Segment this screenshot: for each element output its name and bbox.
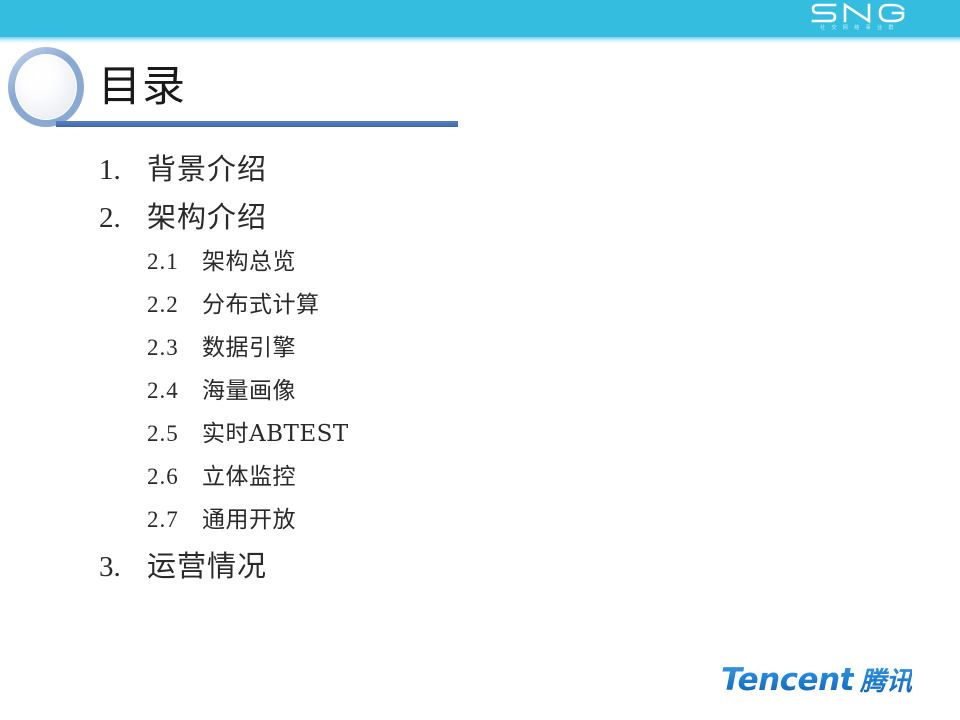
page-title: 目录 (98, 62, 186, 112)
toc-subitem-number: 2.2 (147, 292, 202, 318)
sng-wordmark-icon (804, 2, 912, 24)
toc-item-label: 运营情况 (147, 543, 267, 585)
toc-subitem[interactable]: 2.7 通用开放 (0, 500, 700, 543)
top-banner-fade (0, 37, 960, 44)
toc-item-label: 背景介绍 (147, 146, 267, 188)
toc-subitem-label: 海量画像 (202, 371, 296, 405)
toc-subitem-label: 架构总览 (202, 242, 296, 276)
toc-subitem[interactable]: 2.4 海量画像 (0, 371, 700, 414)
toc-item[interactable]: 2. 架构介绍 (0, 194, 700, 242)
toc-subitem-label: 分布式计算 (202, 285, 320, 319)
toc-subitem-number: 2.3 (147, 335, 202, 361)
toc-item-label: 架构介绍 (147, 194, 267, 236)
toc-item-number: 3. (99, 551, 147, 584)
toc-subitem-number: 2.5 (147, 421, 202, 447)
title-underline-rule (56, 121, 458, 127)
toc-subitem-number: 2.6 (147, 464, 202, 490)
toc-subitem[interactable]: 2.5 实时ABTEST (0, 414, 700, 457)
title-decoration-circle-icon (8, 47, 84, 127)
sng-subtitle: 社 交 网 络 事 业 群 (804, 25, 912, 31)
toc-item[interactable]: 3. 运营情况 (0, 543, 700, 591)
toc-subitem-label: 数据引擎 (202, 328, 296, 362)
tencent-wordmark-en: Tencent (721, 662, 854, 698)
toc-subitem-label: 通用开放 (202, 500, 296, 534)
toc-subitem[interactable]: 2.2 分布式计算 (0, 285, 700, 328)
tencent-logo: Tencent 腾讯 (721, 661, 912, 698)
toc-subitem-number: 2.4 (147, 378, 202, 404)
table-of-contents: 1. 背景介绍 2. 架构介绍 2.1 架构总览 2.2 分布式计算 2.3 数… (0, 146, 700, 591)
toc-subitem[interactable]: 2.6 立体监控 (0, 457, 700, 500)
toc-subitem-number: 2.7 (147, 507, 202, 533)
toc-subitem-number: 2.1 (147, 249, 202, 275)
toc-subitem[interactable]: 2.3 数据引擎 (0, 328, 700, 371)
toc-item-number: 1. (99, 154, 147, 187)
toc-subitem-label: 立体监控 (202, 457, 296, 491)
tencent-wordmark-cn: 腾讯 (860, 661, 912, 698)
presentation-slide: 社 交 网 络 事 业 群 目录 1. 背景介绍 2. 架构介绍 2.1 架构总… (0, 0, 960, 720)
toc-item[interactable]: 1. 背景介绍 (0, 146, 700, 194)
toc-item-number: 2. (99, 202, 147, 235)
toc-subitem-label: 实时ABTEST (202, 414, 349, 448)
toc-subitem[interactable]: 2.1 架构总览 (0, 242, 700, 285)
sng-logo: 社 交 网 络 事 业 群 (804, 2, 912, 38)
